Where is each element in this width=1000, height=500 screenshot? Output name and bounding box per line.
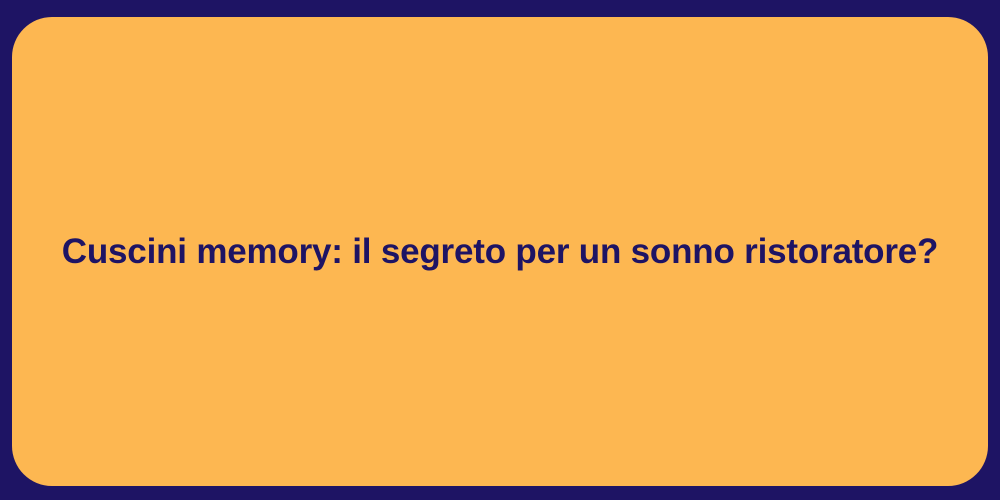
- article-card: Cuscini memory: il segreto per un sonno …: [12, 17, 988, 486]
- article-heading: Cuscini memory: il segreto per un sonno …: [52, 230, 948, 274]
- page-viewport: Cuscini memory: il segreto per un sonno …: [0, 0, 1000, 500]
- card-content: Cuscini memory: il segreto per un sonno …: [12, 230, 988, 274]
